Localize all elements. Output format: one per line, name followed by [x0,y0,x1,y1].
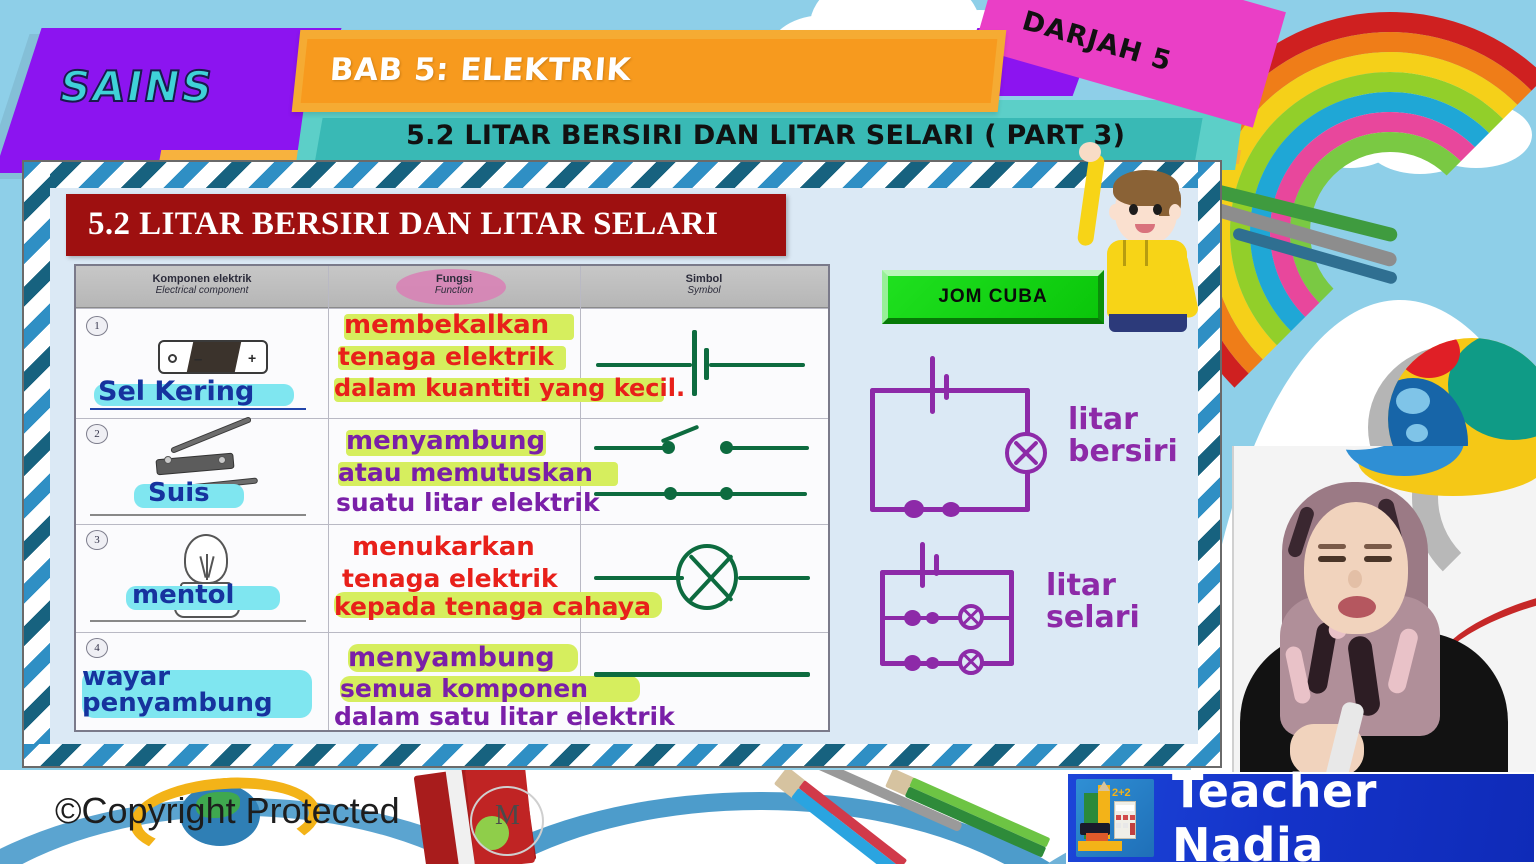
slide-border-top [24,162,1222,188]
boy-cartoon-icon [1085,168,1205,378]
sains-label: SAINS [56,62,218,111]
function-line: menyambung [348,644,555,672]
table-header-cell-symbol: Simbol Symbol [580,266,828,308]
jom-cuba-button[interactable]: JOM CUBA [882,270,1104,324]
slide-inner-area: 5.2 LITAR BERSIRI DAN LITAR SELARI Kompo… [50,188,1198,744]
parallel-label-line2: selari [1046,600,1140,635]
teacher-name-label: Teacher Nadia [1172,764,1534,864]
component-label: Suis [148,480,210,507]
teacher-name-banner: 2+2 Teacher Nadia [1066,772,1536,864]
slide-content-frame: 5.2 LITAR BERSIRI DAN LITAR SELARI Kompo… [22,160,1222,768]
series-label-line1: litar [1068,402,1138,437]
table-row: 3 [86,530,108,550]
function-line: kepada tenaga cahaya [334,594,651,620]
function-line: membekalkan [344,312,549,339]
function-line: dalam satu litar elektrik [334,704,675,730]
copyright-notice: ©Copyright Protected [55,790,400,832]
table-row: 2 [86,424,108,444]
parallel-circuit-diagram [874,552,1054,672]
header-component-ms: Komponen elektrik [76,273,328,285]
table-hline [76,632,828,633]
series-circuit-diagram [860,374,1060,514]
table-hline [76,524,828,525]
underline [90,620,306,622]
table-row: 1 [86,316,108,336]
function-line: menyambung [346,428,545,455]
function-line: suatu litar elektrik [336,490,600,516]
function-line: atau memutuskan [338,460,593,486]
header-function-ms: Fungsi [328,273,580,285]
underline [90,408,306,410]
component-label: Sel Kering [98,378,254,406]
component-label-line2: penyambung [82,690,273,717]
parallel-label-line1: litar [1046,568,1116,603]
function-line: semua komponen [340,676,588,702]
teacher-logo-icon: 2+2 [1076,779,1154,857]
parallel-circuit-label: litar selari [1046,570,1140,633]
function-line: tenaga elektrik [342,566,558,592]
function-line: dalam kuantiti yang kecil. [334,376,685,401]
table-header-cell-function: Fungsi Function [328,266,580,308]
chapter-title: BAB 5: ELEKTRIK [329,52,633,88]
underline [90,514,306,516]
header-symbol-ms: Simbol [580,273,828,285]
table-hline [76,308,828,309]
function-line: menukarkan [352,534,535,561]
table-header-cell-component: Komponen elektrik Electrical component [76,266,328,308]
function-line: tenaga elektrik [338,344,554,370]
header-symbol-en: Symbol [580,285,828,296]
m-monogram: M [495,800,529,840]
slide-border-bottom [24,744,1222,768]
section-heading-text: 5.2 LITAR BERSIRI DAN LITAR SELARI [88,206,718,243]
slide-subtitle: 5.2 LITAR BERSIRI DAN LITAR SELARI ( PAR… [406,120,1125,151]
header-function-en: Function [328,285,580,296]
table-vline [328,266,329,730]
teacher-mouth [1338,596,1376,618]
component-label: mentol [132,582,234,609]
electrical-components-table: Komponen elektrik Electrical component F… [74,264,830,732]
series-label-line2: bersiri [1068,434,1178,469]
presentation-slide: SAINS DARJAH 5 5.2 LITAR BERSIRI DAN LIT… [0,0,1536,864]
table-row: 4 [86,638,108,658]
table-hline [76,418,828,419]
series-circuit-label: litar bersiri [1068,404,1178,467]
slide-border-left [24,162,50,768]
teacher-webcam-feed [1232,446,1536,774]
dry-cell-battery-icon: – + [152,340,272,380]
header-component-en: Electrical component [76,285,328,296]
